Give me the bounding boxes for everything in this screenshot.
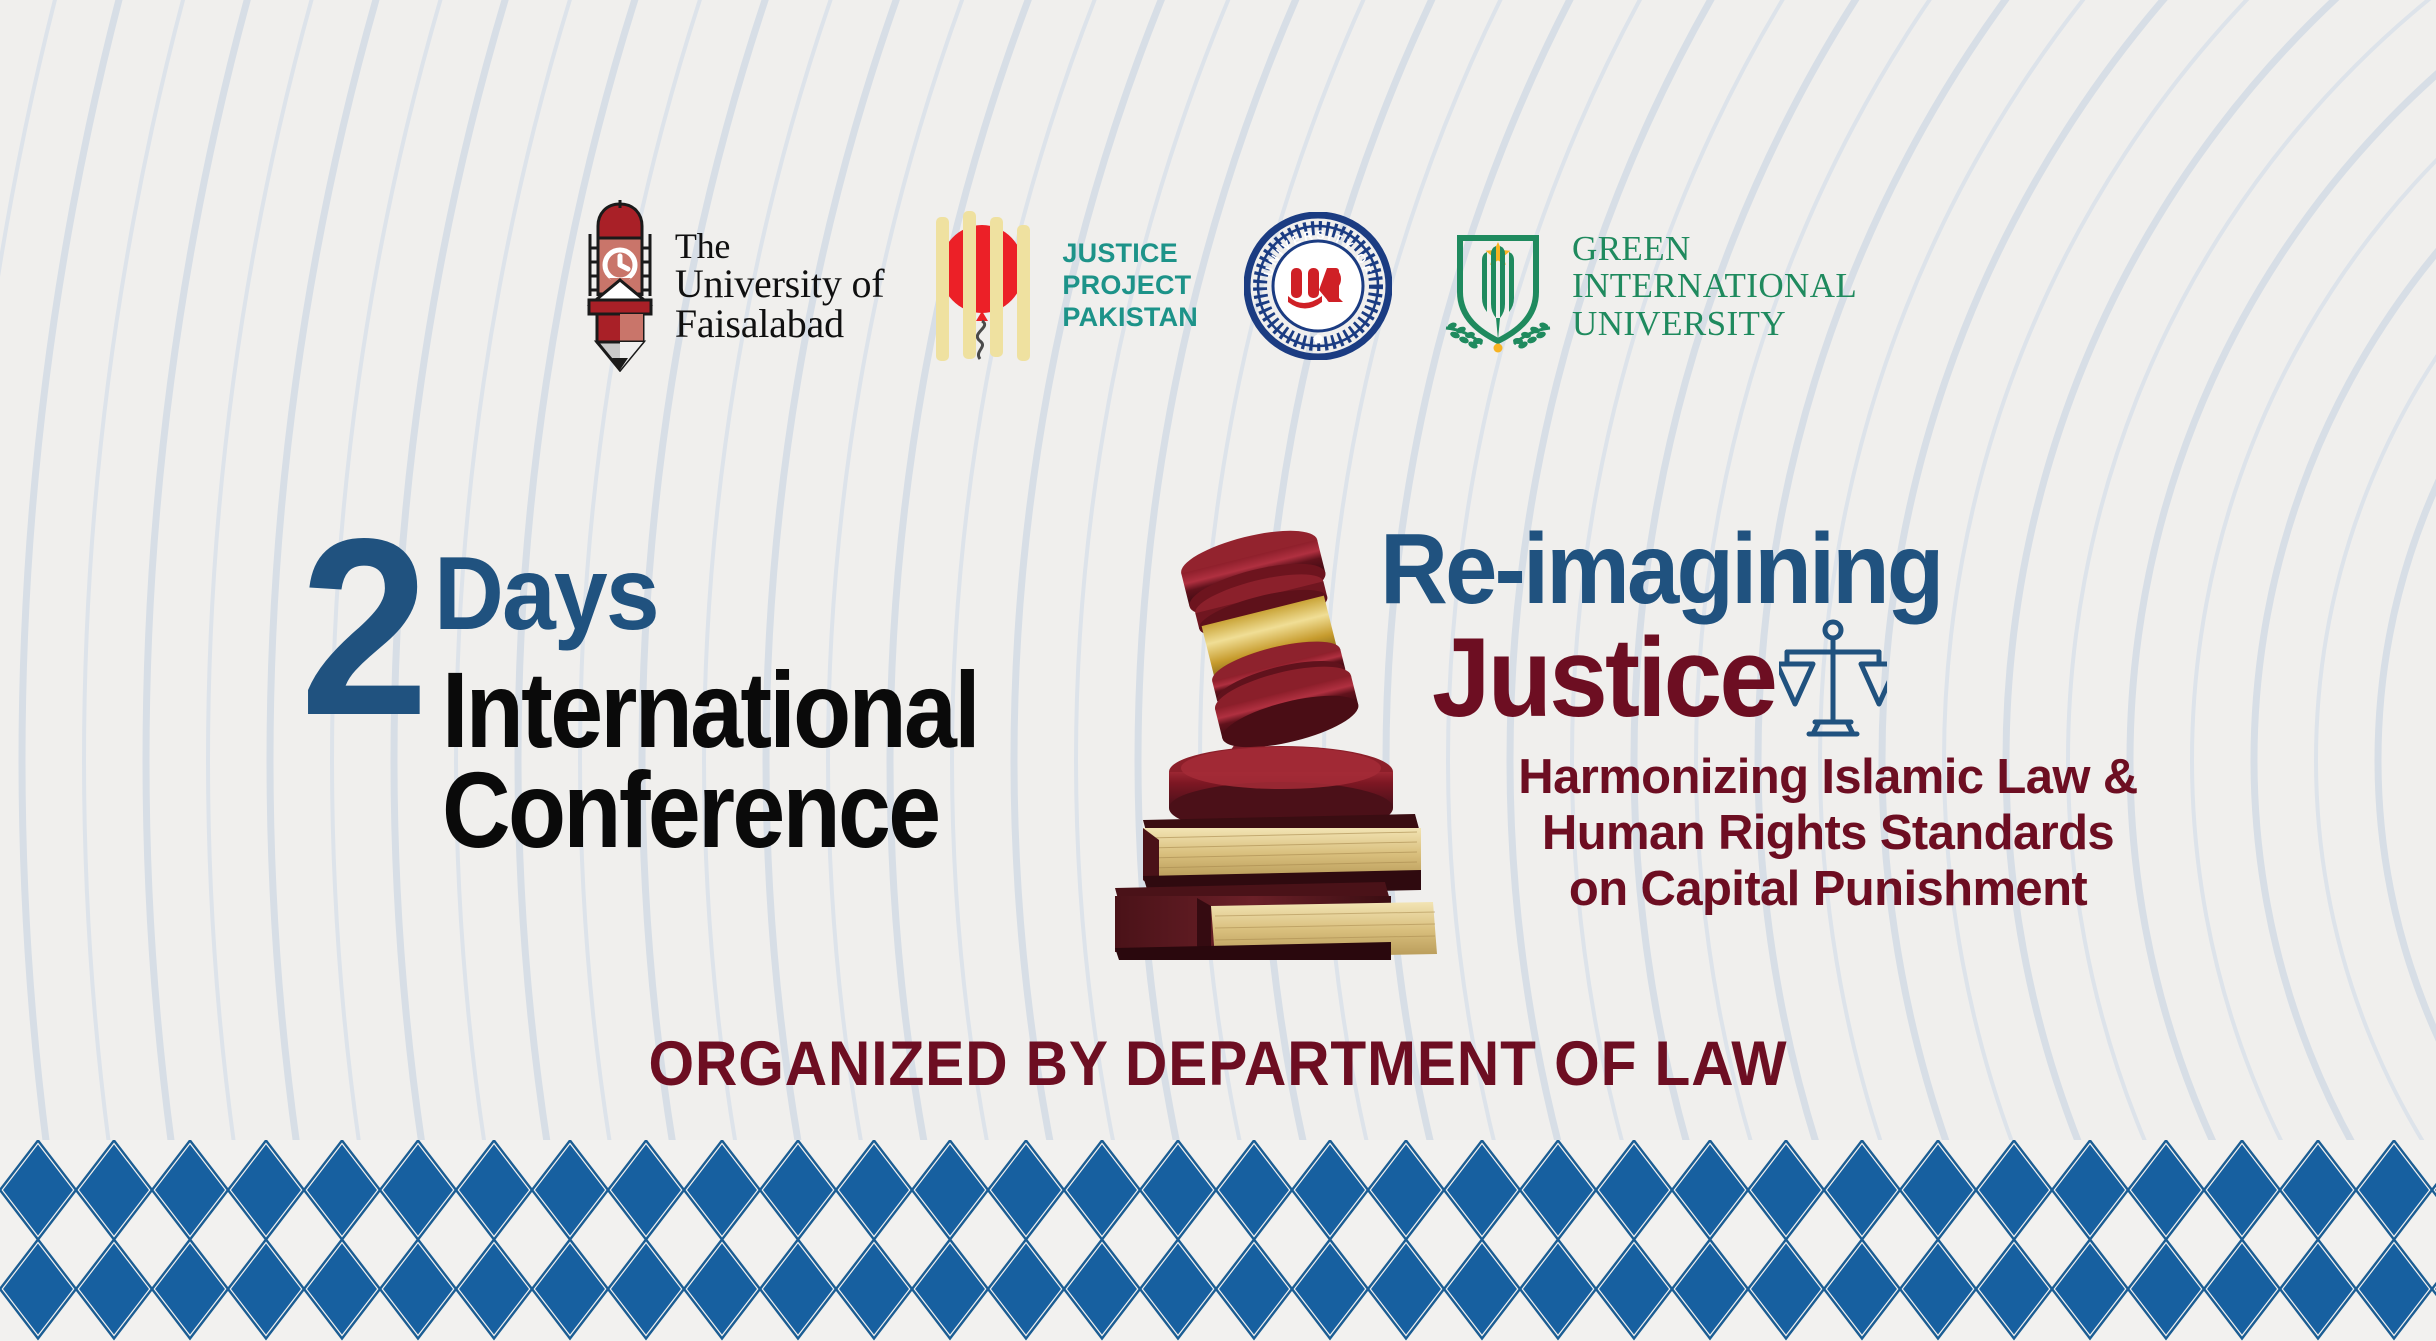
conference-theme-block: Re-imagining Justice	[1380, 520, 2380, 918]
theme-title-bottom: Justice	[1432, 622, 1775, 734]
shield-star-laurel-icon	[1438, 214, 1558, 359]
conference-duration-block: 2 Days International Conference	[300, 530, 1200, 727]
balloon-behind-bars-icon	[930, 211, 1048, 361]
logo-justice-project-pakistan: JUSTICE PROJECT PAKISTAN	[930, 211, 1198, 361]
uof-line-2: University of	[675, 264, 885, 304]
scales-of-justice-icon	[1779, 612, 1887, 744]
giu-line-3: UNIVERSITY	[1572, 305, 1857, 342]
headline-block: 2 Days International Conference	[0, 520, 2436, 940]
logo-university-of-rawalpindi: UNIVERSITY OF RAWALPINDI	[1244, 212, 1392, 360]
jpp-line-1: JUSTICE	[1062, 238, 1198, 270]
uof-line-1: The	[675, 228, 885, 264]
argyle-diamond-svg	[0, 1140, 2436, 1341]
organized-by-text: ORGANIZED BY DEPARTMENT OF LAW	[85, 1028, 2350, 1100]
logo-university-of-faisalabad-text: The University of Faisalabad	[675, 228, 885, 344]
headline-conference: Conference	[442, 758, 938, 862]
logo-university-of-faisalabad: The University of Faisalabad	[579, 200, 885, 372]
giu-line-2: INTERNATIONAL	[1572, 267, 1857, 304]
circular-seal-icon: UNIVERSITY OF RAWALPINDI	[1244, 212, 1392, 360]
logo-green-international-university-text: GREEN INTERNATIONAL UNIVERSITY	[1572, 230, 1857, 341]
uof-line-3: Faisalabad	[675, 304, 885, 344]
theme-title-top: Re-imagining	[1380, 520, 2320, 618]
conference-banner: The University of Faisalabad JUSTICE	[0, 0, 2436, 1341]
subtitle-line-2: Human Rights Standards	[1388, 806, 2268, 862]
partner-logo-row: The University of Faisalabad JUSTICE	[0, 196, 2436, 376]
duration-unit: Days	[434, 542, 658, 646]
duration-number: 2	[300, 530, 420, 727]
subtitle-line-1: Harmonizing Islamic Law &	[1388, 750, 2268, 806]
jpp-line-3: PAKISTAN	[1062, 302, 1198, 334]
subtitle-line-3: on Capital Punishment	[1388, 862, 2268, 918]
logo-green-international-university: GREEN INTERNATIONAL UNIVERSITY	[1438, 214, 1857, 359]
clock-tower-pencil-icon	[579, 200, 661, 372]
giu-line-1: GREEN	[1572, 230, 1857, 267]
argyle-diamond-border	[0, 1140, 2436, 1341]
jpp-line-2: PROJECT	[1062, 270, 1198, 302]
headline-international: International	[442, 658, 978, 762]
theme-subtitle: Harmonizing Islamic Law & Human Rights S…	[1388, 750, 2268, 918]
logo-justice-project-pakistan-text: JUSTICE PROJECT PAKISTAN	[1062, 238, 1198, 334]
